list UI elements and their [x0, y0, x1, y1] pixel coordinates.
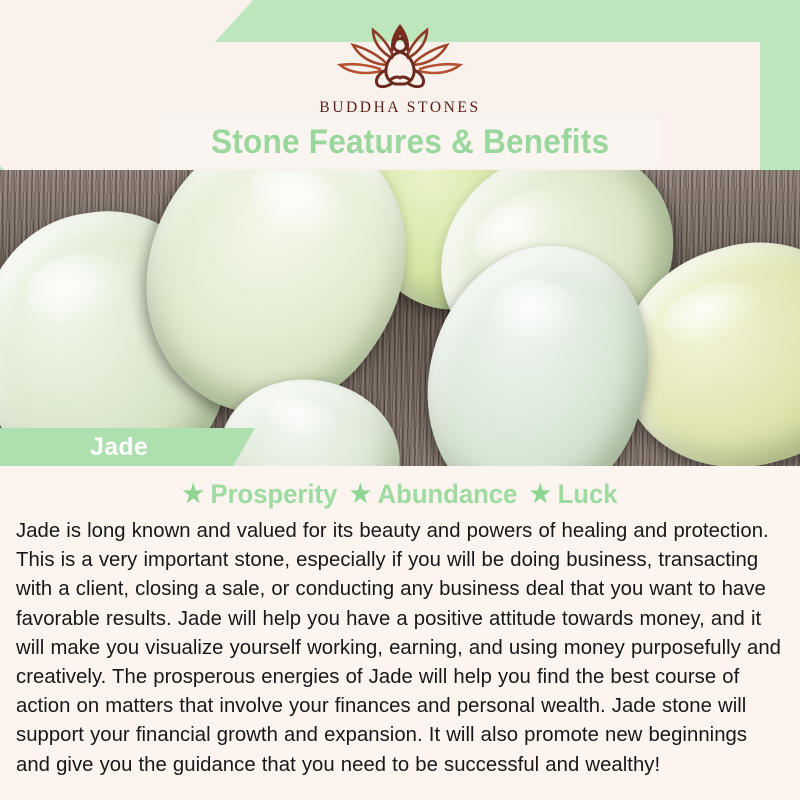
keyword-item: ★ Luck — [530, 479, 618, 510]
keyword-label: Abundance — [378, 479, 518, 510]
page-title: Stone Features & Benefits — [211, 123, 609, 162]
keyword-label: Luck — [558, 479, 618, 510]
brand-logo: BUDDHA STONES — [0, 18, 800, 117]
keyword-label: Prosperity — [210, 479, 337, 510]
header: BUDDHA STONES Stone Features & Benefits — [0, 0, 800, 170]
keyword-item: ★ Abundance — [350, 479, 518, 510]
stone-name-label: Jade — [90, 433, 148, 462]
lotus-meditation-icon — [332, 18, 468, 92]
stone-name-banner: Jade — [0, 428, 255, 466]
star-icon: ★ — [530, 482, 551, 507]
description-text: Jade is long known and valued for its be… — [16, 517, 786, 780]
star-icon: ★ — [183, 482, 204, 507]
keyword-item: ★ Prosperity — [183, 479, 338, 510]
brand-name: BUDDHA STONES — [319, 99, 480, 117]
content-panel: ★ Prosperity ★ Abundance ★ Luck Jade is … — [0, 466, 800, 800]
keyword-list: ★ Prosperity ★ Abundance ★ Luck — [20, 479, 780, 510]
title-banner: Stone Features & Benefits — [160, 118, 660, 166]
star-icon: ★ — [350, 482, 371, 507]
stone-photo: Jade — [0, 170, 800, 466]
